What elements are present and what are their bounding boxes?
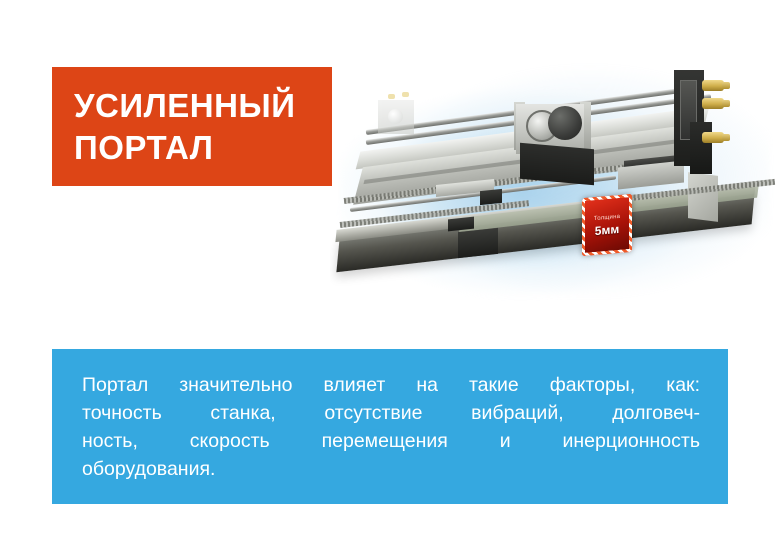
brass-fitting-top: [702, 80, 724, 91]
description-panel: Портал значительно влияет на такие факто…: [52, 349, 728, 504]
description-line-3: ность, скорость перемещения и инерционно…: [82, 427, 700, 455]
description-line-1: Портал значительно влияет на такие факто…: [82, 371, 700, 399]
gantry-beam-end-cap: [688, 172, 718, 222]
description-line-2: точность станка, отсутствие вибраций, до…: [82, 399, 700, 427]
limit-switch-block: [480, 189, 502, 205]
slide-root: Толщина 5мм УСИЛЕННЫЙ ПОРТАЛ Портал знач…: [0, 0, 780, 541]
far-screw-right: [402, 92, 409, 97]
carriage-base-block: [458, 228, 498, 258]
thickness-callout-value: 5мм: [595, 222, 619, 236]
description-text: Портал значительно влияет на такие факто…: [82, 371, 700, 483]
thickness-callout-label: Толщина: [594, 213, 620, 221]
description-line-4: оборудования.: [82, 455, 700, 483]
tool-head-arm: [690, 122, 712, 174]
brass-fitting-middle: [702, 98, 724, 109]
product-photo: Толщина 5мм: [330, 22, 780, 342]
headline-line-2: ПОРТАЛ: [74, 127, 332, 169]
brass-fitting-bottom: [702, 132, 724, 143]
headline-banner: УСИЛЕННЫЙ ПОРТАЛ: [52, 67, 332, 186]
headline-line-1: УСИЛЕННЫЙ: [74, 85, 332, 127]
cnc-gantry-illustration: Толщина 5мм: [330, 22, 780, 342]
carriage-dark-housing: [520, 143, 594, 185]
stepper-motor: [548, 106, 582, 140]
far-screw-left: [388, 94, 395, 99]
far-bearing-block: [378, 100, 414, 134]
thickness-callout-badge: Толщина 5мм: [582, 194, 632, 256]
